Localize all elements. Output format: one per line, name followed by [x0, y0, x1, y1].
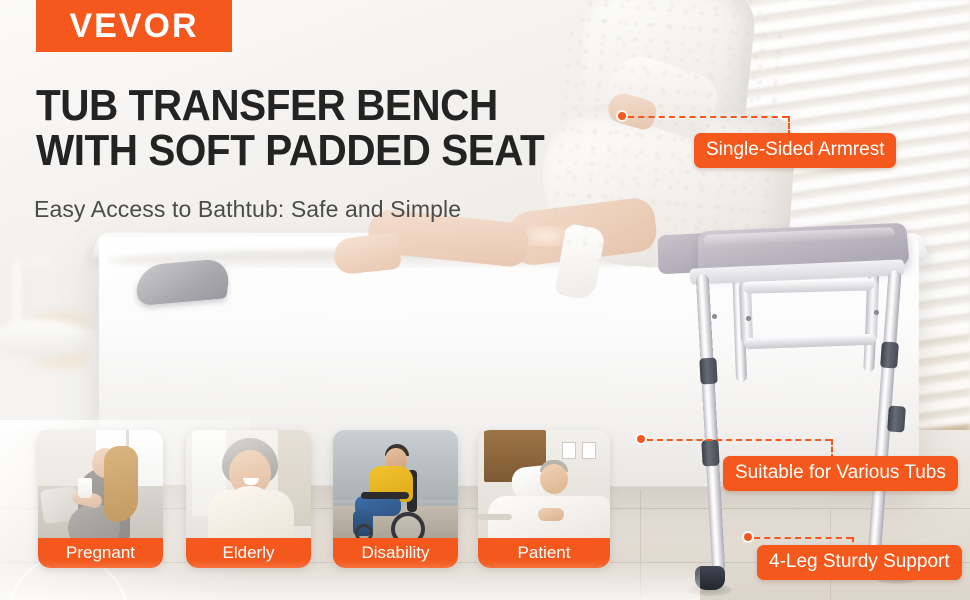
blurred-vanity-sink: [0, 250, 110, 400]
persona-card-strip: Pregnant Elderly Disability: [38, 430, 618, 570]
height-adjust-collar: [699, 358, 717, 385]
callout-single-sided-armrest: Single-Sided Armrest: [694, 133, 896, 168]
height-adjust-collar: [880, 341, 899, 368]
persona-card-pregnant: Pregnant: [38, 430, 163, 568]
leader-dot: [744, 533, 752, 541]
persona-card-elderly: Elderly: [186, 430, 311, 568]
page-title: TUB TRANSFER BENCH WITH SOFT PADDED SEAT: [36, 84, 625, 174]
vevor-logo: VEVOR: [36, 0, 232, 52]
persona-card-patient: Patient: [478, 430, 610, 568]
subtitle: Easy Access to Bathtub: Safe and Simple: [34, 196, 461, 223]
armrest-grab-bar: [744, 334, 876, 350]
callout-suitable-for-various-tubs: Suitable for Various Tubs: [723, 456, 958, 491]
leader-horizontal: [647, 439, 831, 441]
strip-bottom-fade: [0, 560, 700, 600]
callout-4-leg-sturdy-support: 4-Leg Sturdy Support: [757, 545, 962, 580]
tub-transfer-bench-product: [660, 218, 960, 578]
bench-front-left-leg: [696, 274, 726, 574]
product-marketing-poster: VEVOR TUB TRANSFER BENCH WITH SOFT PADDE…: [0, 0, 970, 600]
leader-dot: [637, 435, 645, 443]
leader-horizontal: [628, 116, 788, 118]
headline-line-1: TUB TRANSFER BENCH: [36, 81, 498, 130]
height-adjust-collar: [887, 405, 906, 432]
armrest-top-rail: [744, 278, 874, 293]
persona-card-disability: Disability: [333, 430, 458, 568]
leader-horizontal: [754, 537, 852, 539]
height-adjust-collar: [701, 440, 719, 467]
model-foot: [332, 233, 401, 276]
headline-line-2: WITH SOFT PADDED SEAT: [36, 129, 625, 174]
leader-dot: [618, 112, 626, 120]
vevor-logo-text: VEVOR: [69, 7, 198, 46]
